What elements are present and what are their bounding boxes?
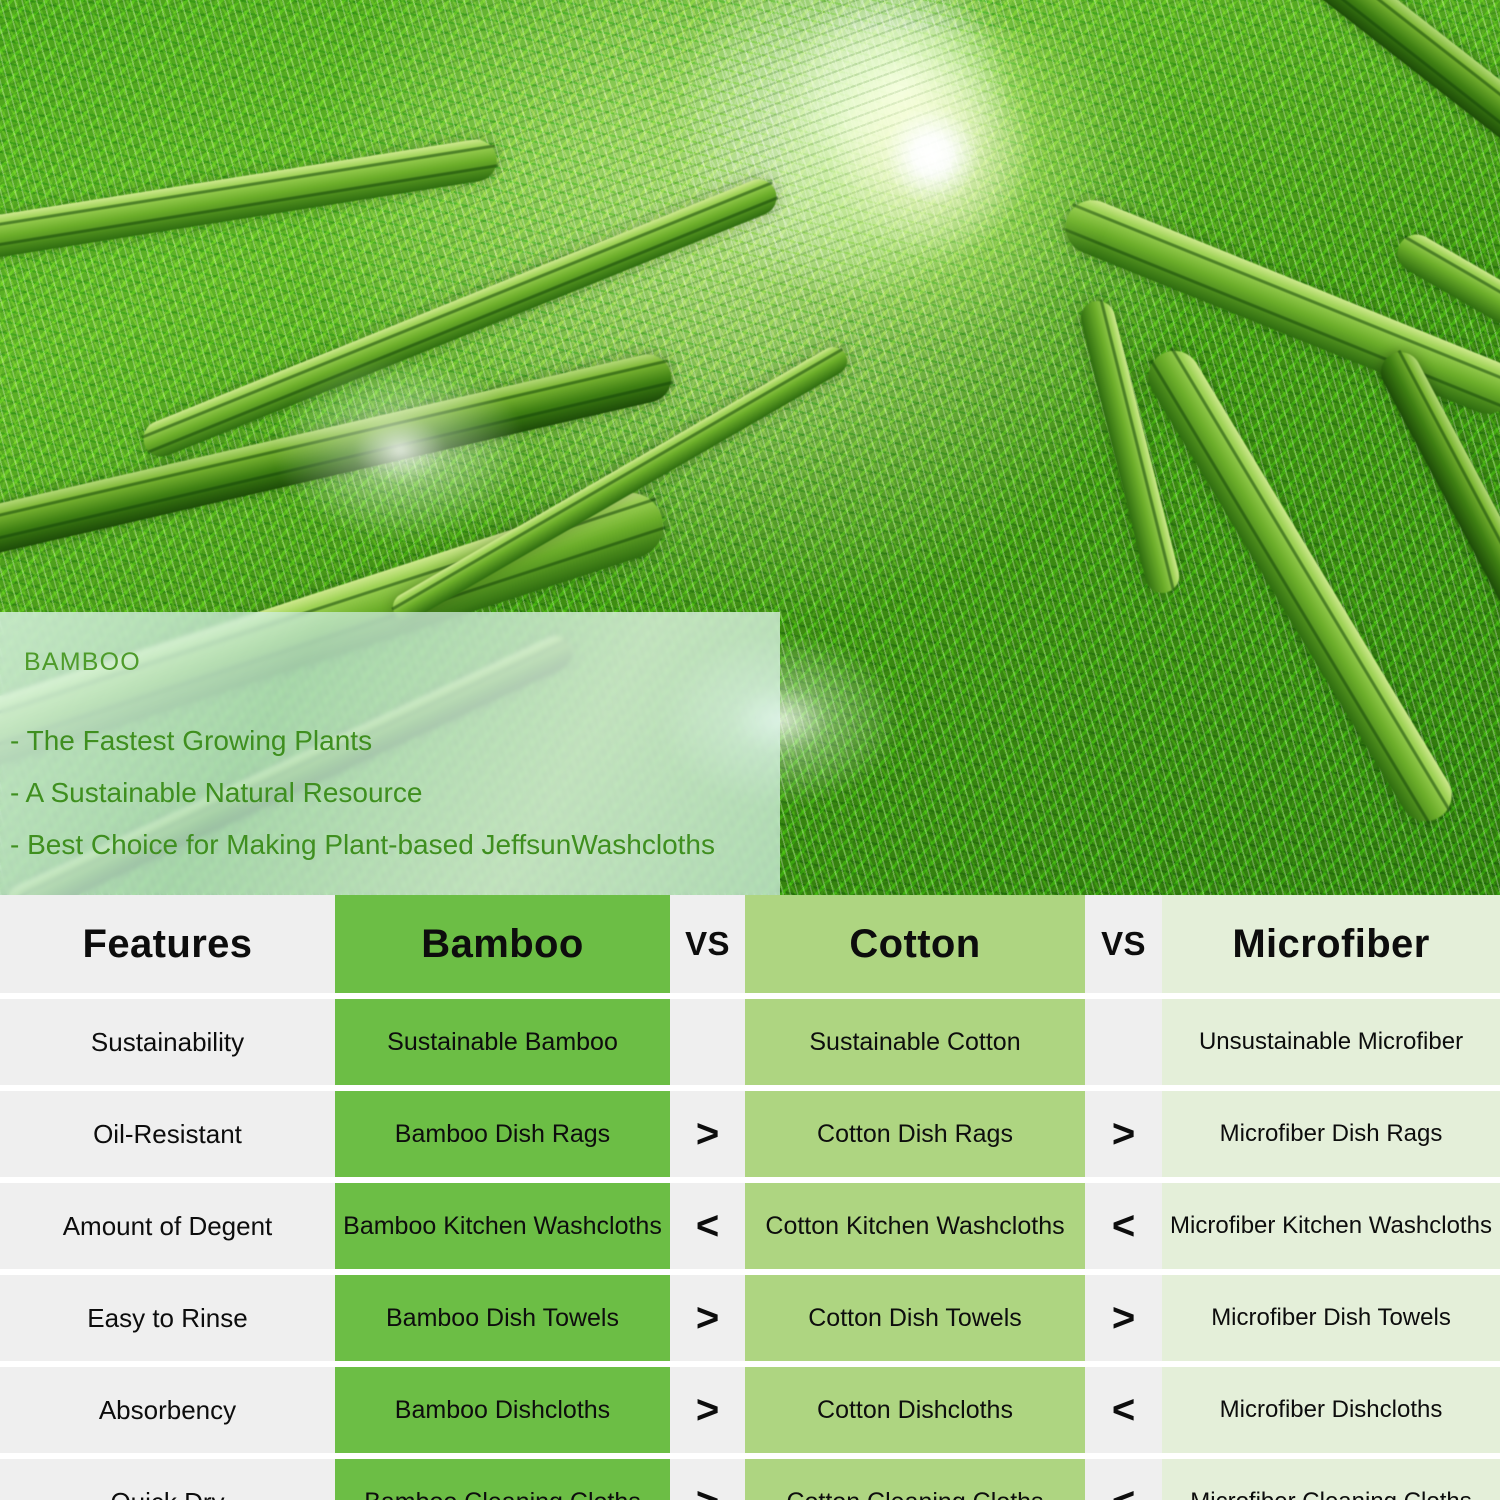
microfiber-value: Microfiber Kitchen Washcloths	[1170, 1212, 1492, 1240]
operator-symbol: <	[1112, 1206, 1135, 1246]
cell-feature: Absorbency	[0, 1367, 335, 1453]
cell-cotton: Cotton Dishcloths	[745, 1367, 1085, 1453]
cell-feature: Amount of Degent	[0, 1183, 335, 1269]
table-header-row: Features Bamboo VS Cotton VS Microfiber	[0, 895, 1500, 993]
operator-symbol: >	[1112, 1114, 1135, 1154]
cell-operator-1: >	[670, 1459, 745, 1500]
bamboo-value: Bamboo Dish Rags	[395, 1120, 610, 1149]
bamboo-value: Bamboo Dish Towels	[386, 1304, 619, 1333]
cell-microfiber: Microfiber Dish Towels	[1162, 1275, 1500, 1361]
cell-cotton: Cotton Kitchen Washcloths	[745, 1183, 1085, 1269]
header-label-vs-1: VS	[685, 925, 730, 963]
bamboo-value: Sustainable Bamboo	[387, 1028, 618, 1057]
overlay-bullet-3: - Best Choice for Making Plant-based Jef…	[10, 829, 780, 861]
operator-symbol: >	[696, 1114, 719, 1154]
header-label-bamboo: Bamboo	[421, 922, 583, 967]
table-row: Oil-Resistant Bamboo Dish Rags > Cotton …	[0, 1091, 1500, 1177]
operator-symbol: >	[696, 1298, 719, 1338]
cell-operator-2: >	[1085, 1091, 1162, 1177]
header-cell-features: Features	[0, 895, 335, 993]
microfiber-value: Microfiber Cleaning Cloths	[1190, 1488, 1471, 1500]
cell-operator-1: <	[670, 1183, 745, 1269]
cotton-value: Cotton Cleaning Cloths	[786, 1488, 1043, 1500]
cell-feature: Easy to Rinse	[0, 1275, 335, 1361]
table-row: Amount of Degent Bamboo Kitchen Washclot…	[0, 1183, 1500, 1269]
cotton-value: Cotton Kitchen Washcloths	[765, 1212, 1064, 1241]
feature-label: Easy to Rinse	[87, 1303, 247, 1334]
operator-symbol: <	[1112, 1482, 1135, 1500]
cell-bamboo: Bamboo Kitchen Washcloths	[335, 1183, 670, 1269]
cell-bamboo: Bamboo Dishcloths	[335, 1367, 670, 1453]
cell-feature: Sustainability	[0, 999, 335, 1085]
header-cell-microfiber: Microfiber	[1162, 895, 1500, 993]
cell-operator-1	[670, 999, 745, 1085]
operator-symbol: >	[696, 1482, 719, 1500]
table-row: Sustainability Sustainable Bamboo Sustai…	[0, 999, 1500, 1085]
cell-operator-2: >	[1085, 1275, 1162, 1361]
sun-glare	[780, 30, 1160, 360]
feature-label: Absorbency	[99, 1395, 236, 1426]
cell-bamboo: Sustainable Bamboo	[335, 999, 670, 1085]
table-row: Easy to Rinse Bamboo Dish Towels > Cotto…	[0, 1275, 1500, 1361]
header-cell-vs-2: VS	[1085, 895, 1162, 993]
bamboo-info-panel: BAMBOO - The Fastest Growing Plants - A …	[0, 612, 780, 895]
overlay-title: BAMBOO	[24, 648, 780, 677]
cell-microfiber: Microfiber Dish Rags	[1162, 1091, 1500, 1177]
cotton-value: Cotton Dishcloths	[817, 1396, 1013, 1425]
feature-label: Oil-Resistant	[93, 1119, 242, 1150]
microfiber-value: Microfiber Dish Towels	[1211, 1304, 1451, 1332]
cell-microfiber: Microfiber Cleaning Cloths	[1162, 1459, 1500, 1500]
cell-operator-1: >	[670, 1275, 745, 1361]
product-infographic: BAMBOO - The Fastest Growing Plants - A …	[0, 0, 1500, 1500]
cell-cotton: Cotton Dish Towels	[745, 1275, 1085, 1361]
header-cell-cotton: Cotton	[745, 895, 1085, 993]
cotton-value: Sustainable Cotton	[809, 1028, 1020, 1057]
cell-feature: Quick Dry	[0, 1459, 335, 1500]
microfiber-value: Microfiber Dish Rags	[1220, 1120, 1443, 1148]
table-row: Quick Dry Bamboo Cleaning Cloths > Cotto…	[0, 1459, 1500, 1500]
sun-glare	[250, 340, 550, 560]
cell-cotton: Cotton Dish Rags	[745, 1091, 1085, 1177]
microfiber-value: Unsustainable Microfiber	[1199, 1028, 1463, 1056]
operator-symbol: >	[696, 1390, 719, 1430]
cell-bamboo: Bamboo Dish Towels	[335, 1275, 670, 1361]
header-label-microfiber: Microfiber	[1232, 922, 1429, 967]
cell-operator-2: <	[1085, 1183, 1162, 1269]
feature-label: Sustainability	[91, 1027, 244, 1058]
microfiber-value: Microfiber Dishcloths	[1220, 1396, 1443, 1424]
table-row: Absorbency Bamboo Dishcloths > Cotton Di…	[0, 1367, 1500, 1453]
operator-symbol: <	[1112, 1390, 1135, 1430]
cell-operator-1: >	[670, 1091, 745, 1177]
cell-operator-1: >	[670, 1367, 745, 1453]
header-cell-vs-1: VS	[670, 895, 745, 993]
cell-cotton: Sustainable Cotton	[745, 999, 1085, 1085]
header-label-features: Features	[83, 922, 253, 967]
bamboo-value: Bamboo Cleaning Cloths	[364, 1488, 641, 1500]
comparison-table: Features Bamboo VS Cotton VS Microfiber …	[0, 895, 1500, 1500]
cell-microfiber: Microfiber Dishcloths	[1162, 1367, 1500, 1453]
cell-bamboo: Bamboo Dish Rags	[335, 1091, 670, 1177]
overlay-bullet-1: - The Fastest Growing Plants	[10, 725, 780, 757]
operator-symbol: <	[696, 1206, 719, 1246]
cell-operator-2: <	[1085, 1459, 1162, 1500]
cotton-value: Cotton Dish Rags	[817, 1120, 1013, 1149]
feature-label: Quick Dry	[110, 1487, 224, 1500]
header-label-cotton: Cotton	[849, 922, 980, 967]
cell-operator-2	[1085, 999, 1162, 1085]
cell-bamboo: Bamboo Cleaning Cloths	[335, 1459, 670, 1500]
bamboo-forest-photo: BAMBOO - The Fastest Growing Plants - A …	[0, 0, 1500, 895]
operator-symbol: >	[1112, 1298, 1135, 1338]
cell-feature: Oil-Resistant	[0, 1091, 335, 1177]
bamboo-value: Bamboo Dishcloths	[395, 1396, 610, 1425]
cell-cotton: Cotton Cleaning Cloths	[745, 1459, 1085, 1500]
feature-label: Amount of Degent	[63, 1211, 273, 1242]
overlay-bullet-2: - A Sustainable Natural Resource	[10, 777, 780, 809]
cell-operator-2: <	[1085, 1367, 1162, 1453]
header-label-vs-2: VS	[1101, 925, 1146, 963]
bamboo-value: Bamboo Kitchen Washcloths	[343, 1212, 662, 1241]
header-cell-bamboo: Bamboo	[335, 895, 670, 993]
cell-microfiber: Unsustainable Microfiber	[1162, 999, 1500, 1085]
cell-microfiber: Microfiber Kitchen Washcloths	[1162, 1183, 1500, 1269]
cotton-value: Cotton Dish Towels	[808, 1304, 1022, 1333]
